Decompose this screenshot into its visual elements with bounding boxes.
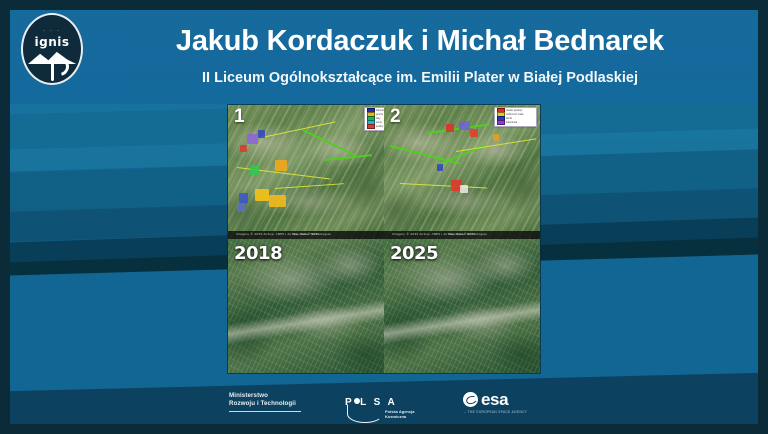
- satellite-comparison-figure: 1 zabudowa grunty orne lasy wody: [228, 105, 540, 373]
- legend-label: pożary: [376, 126, 383, 128]
- esa-logo-main: esa: [463, 391, 539, 408]
- legend-label: zabudowa: [506, 122, 517, 124]
- class-polygon: [258, 130, 266, 138]
- legend-item: zabudowa: [497, 121, 535, 124]
- sponsor-logo-bar: Ministerstwo Rozwoju i Technologii PL S …: [0, 380, 768, 424]
- polsa-orbit-icon: [347, 404, 383, 423]
- ignis-logo-dots: · · ·: [23, 28, 81, 34]
- class-polygon: [247, 134, 258, 143]
- legend-swatch: [497, 120, 505, 125]
- ministerstwo-logo-line1: Ministerstwo: [229, 392, 303, 400]
- class-polygon: [250, 165, 259, 174]
- legend-label: lasy: [376, 118, 380, 120]
- class-polygon: [269, 195, 286, 207]
- presentation-slide: · · · ignis Jakub Kordaczuk i Michał Bed…: [0, 0, 768, 434]
- panel-caption-2025: 2025: [390, 243, 438, 264]
- class-polygon: [239, 193, 248, 202]
- class-polygon: [446, 124, 454, 132]
- ministerstwo-logo-line2: Rozwoju i Technologii: [229, 400, 303, 408]
- esa-tagline: → THE EUROPEAN SPACE AGENCY: [463, 410, 539, 414]
- polsa-subtitle: Polska Agencja Kosmiczna: [385, 409, 414, 421]
- class-polygon: [493, 134, 499, 141]
- map-attribution-bar: Imagery © 2025 Airbus, CNES / Airbus, Ma…: [228, 231, 384, 239]
- ministerstwo-logo: Ministerstwo Rozwoju i Technologii: [229, 392, 303, 413]
- legend-label: obszar spalony: [506, 110, 522, 112]
- legend-label: wody: [376, 122, 382, 124]
- class-polygon: [460, 185, 468, 193]
- class-polygon: [237, 204, 245, 212]
- polsa-subtitle-line2: Kosmiczna: [385, 414, 414, 420]
- ministerstwo-logo-rule: [229, 411, 301, 413]
- map-panel-2025[interactable]: 2025: [384, 239, 540, 373]
- ignis-logo-wordmark: ignis: [23, 35, 81, 49]
- ignis-logo-badge: · · · ignis: [21, 13, 83, 85]
- legend-swatch: [367, 124, 375, 129]
- legend-label: woda: [506, 118, 512, 120]
- map-panel-2[interactable]: 2 obszar spalony roślinność niska woda z…: [384, 105, 540, 239]
- map-panel-1[interactable]: 1 zabudowa grunty orne lasy wody: [228, 105, 384, 239]
- polsa-orb-icon: [354, 398, 360, 404]
- class-polygon: [275, 160, 287, 171]
- esa-wordmark: esa: [481, 391, 508, 408]
- class-polygon: [459, 121, 470, 130]
- panel-caption-1: 1: [234, 106, 245, 128]
- legend-label: zabudowa: [376, 110, 384, 112]
- class-polygon: [240, 145, 246, 152]
- legend-label: roślinność niska: [506, 114, 523, 116]
- map-attribution-center: Map data © 2025: [293, 232, 320, 236]
- esa-emblem-icon: [463, 392, 478, 407]
- page-title: Jakub Kordaczuk i Michał Bednarek: [96, 26, 744, 56]
- class-polygon: [437, 164, 443, 171]
- classification-legend-1[interactable]: zabudowa grunty orne lasy wody pożary: [364, 107, 384, 131]
- legend-item: pożary: [367, 125, 385, 128]
- esa-logo: esa → THE EUROPEAN SPACE AGENCY: [463, 391, 539, 414]
- page-subtitle: II Liceum Ogólnokształcące im. Emilii Pl…: [96, 70, 744, 86]
- panel-caption-2: 2: [390, 106, 401, 128]
- legend-label: grunty orne: [376, 114, 384, 116]
- map-attribution-center: Map data © 2025: [449, 232, 476, 236]
- polsa-logo: PL S A Polska Agencja Kosmiczna: [345, 397, 421, 408]
- ignis-logo: · · · ignis: [21, 13, 83, 85]
- class-polygon: [470, 129, 478, 137]
- panel-caption-2018: 2018: [234, 243, 282, 264]
- class-polygon: [255, 189, 269, 201]
- map-panel-2018[interactable]: 2018: [228, 239, 384, 373]
- classification-legend-2[interactable]: obszar spalony roślinność niska woda zab…: [494, 107, 537, 127]
- slide-header: · · · ignis Jakub Kordaczuk i Michał Bed…: [0, 0, 768, 104]
- map-attribution-bar: Imagery © 2025 Airbus, CNES / Airbus, Ma…: [384, 231, 540, 239]
